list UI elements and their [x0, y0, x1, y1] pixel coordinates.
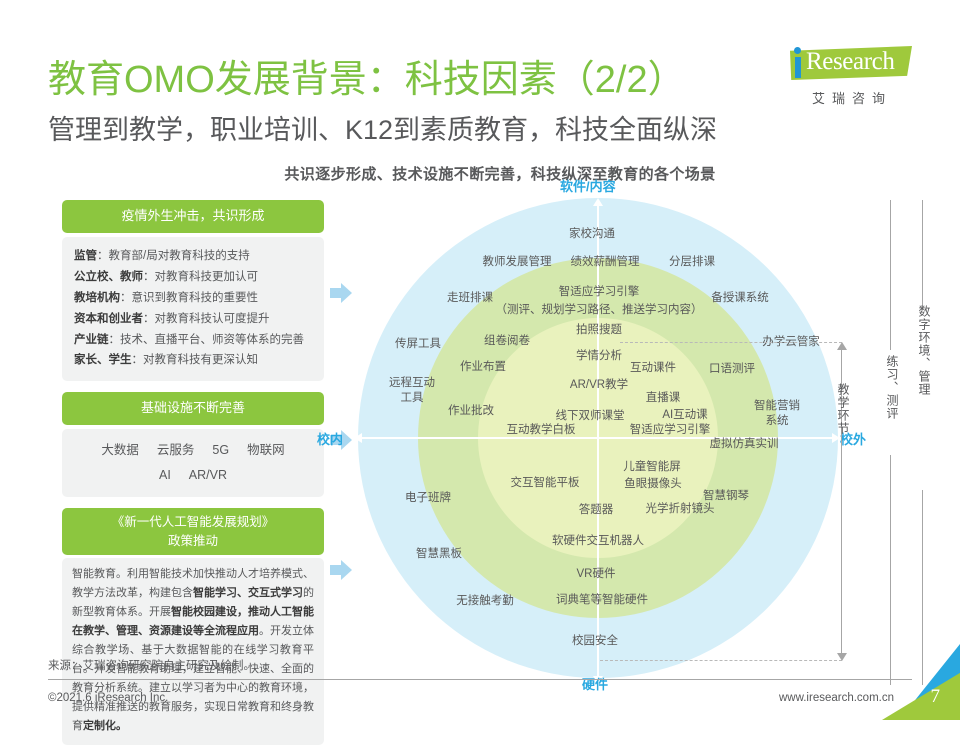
bracket-arrow-up-icon	[837, 342, 847, 350]
diagram-node: 智适应学习引擎	[630, 423, 711, 437]
policy-header: 《新一代人工智能发展规划》 政策推动	[62, 508, 324, 556]
diagram-node: 作业批改	[448, 404, 494, 418]
diagram-node: 分层排课	[669, 255, 715, 269]
diagram-node: 备授课系统	[711, 291, 769, 305]
bracket-arrow-down-icon	[837, 653, 847, 661]
policy-emphasis: 定制化。	[83, 720, 127, 732]
diagram-node: 学情分析	[576, 349, 622, 363]
diagram-node: 互动课件	[630, 361, 676, 375]
diagram-node: 口语测评	[709, 362, 755, 376]
logo-chinese-name: 艾瑞咨询	[792, 88, 912, 107]
diagram-node: 词典笔等智能硬件	[556, 593, 648, 607]
consensus-item-label: 监管	[74, 250, 97, 262]
technology-scenario-diagram: 软件/内容 硬件 校内 校外 家校沟通教师发展管理绩效薪酬管理分层排课走班排课备…	[340, 186, 900, 666]
corner-decoration	[882, 644, 960, 720]
diagram-node: 组卷阅卷	[484, 334, 530, 348]
diagram-node: 鱼眼摄像头	[624, 477, 682, 491]
diagram-node: 直播课	[646, 391, 681, 405]
consensus-item-label: 资本和创业者	[74, 313, 143, 325]
policy-body: 智能教育。利用智能技术加快推动人才培养模式、教学方法改革，构建包含智能学习、交互…	[62, 558, 324, 744]
diagram-node: 电子班牌	[405, 491, 451, 505]
infrastructure-tag: AR/VR	[189, 463, 227, 487]
dash-guide-bottom	[600, 660, 842, 661]
axis-label-top: 软件/内容	[560, 176, 616, 195]
consensus-item: 资本和创业者：对教育科技认可度提升	[74, 309, 312, 330]
infrastructure-row-2: AIAR/VR	[66, 463, 320, 487]
consensus-item-label: 公立校、教师	[74, 271, 143, 283]
consensus-header: 疫情外生冲击，共识形成	[62, 200, 324, 233]
infrastructure-tag: 物联网	[247, 438, 285, 462]
source-note: 来源：艾瑞咨询研究院自主研究及绘制。	[48, 657, 255, 673]
diagram-node: 智能营销	[754, 399, 800, 413]
infrastructure-row-1: 大数据云服务5G物联网	[66, 438, 320, 462]
iresearch-logo: Research 艾瑞咨询	[772, 44, 912, 110]
diagram-node: 作业布置	[460, 360, 506, 374]
diagram-node: 儿童智能屏	[623, 460, 681, 474]
diagram-node: AI互动课	[662, 408, 707, 422]
diagram-node: 校园安全	[572, 634, 618, 648]
diagram-node: 拍照搜题	[576, 323, 622, 337]
infrastructure-tag: AI	[159, 463, 171, 487]
diagram-node: 虚拟仿真实训	[710, 437, 779, 451]
consensus-list: 监管：教育部/局对教育科技的支持公立校、教师：对教育科技更加认可教培机构：意识到…	[62, 237, 324, 382]
logo-wordmark: Research	[806, 48, 894, 76]
bracket-label-teaching: 教学环节	[835, 383, 852, 435]
policy-header-line2: 政策推动	[66, 532, 320, 551]
footer-divider	[48, 679, 912, 680]
diagram-node: 智慧黑板	[416, 547, 462, 561]
logo-mark: Research	[772, 44, 912, 84]
consensus-item-label: 教培机构	[74, 292, 120, 304]
diagram-node: 互动教学白板	[507, 423, 576, 437]
diagram-node: 远程互动	[389, 376, 435, 390]
copyright-text: ©2021.6 iResearch Inc.	[48, 692, 168, 704]
diagram-node: 家校沟通	[569, 227, 615, 241]
page-title: 教育OMO发展背景：科技因素（2/2）	[48, 48, 686, 103]
bracket-label-practice: 练习、测评	[884, 355, 901, 420]
diagram-node: 答题器	[579, 503, 614, 517]
infrastructure-tag: 云服务	[157, 438, 195, 462]
diagram-node: 教师发展管理	[483, 255, 552, 269]
infrastructure-tag: 5G	[212, 438, 229, 462]
axis-arrow-up-icon	[593, 198, 603, 206]
axis-label-left: 校内	[317, 429, 343, 448]
slide-root: 教育OMO发展背景：科技因素（2/2） 管理到教学，职业培训、K12到素质教育，…	[0, 0, 960, 720]
policy-header-line1: 《新一代人工智能发展规划》	[66, 513, 320, 532]
diagram-node: 软硬件交互机器人	[552, 534, 644, 548]
infrastructure-box: 大数据云服务5G物联网 AIAR/VR	[62, 429, 324, 497]
diagram-node: 智适应学习引擎	[559, 285, 640, 299]
diagram-node: 系统	[766, 414, 789, 428]
diagram-node: （测评、规划学习路径、推送学习内容）	[496, 303, 703, 317]
bracket-label-digital-env: 数字环境、管理	[916, 305, 933, 396]
bracket-line-3-top	[922, 200, 923, 310]
axis-label-bottom: 硬件	[582, 674, 608, 693]
diagram-node: 光学折射镜头	[646, 502, 715, 516]
consensus-item-label: 产业链	[74, 334, 109, 346]
infrastructure-tag: 大数据	[101, 438, 139, 462]
consensus-item: 教培机构：意识到教育科技的重要性	[74, 288, 312, 309]
section-heading: 共识逐步形成、技术设施不断完善，科技纵深至教育的各个场景	[0, 163, 960, 184]
diagram-node: 工具	[401, 391, 424, 405]
diagram-node: AR/VR教学	[570, 378, 628, 392]
bracket-line-2-top	[890, 200, 891, 350]
consensus-item: 监管：教育部/局对教育科技的支持	[74, 246, 312, 267]
logo-i-stem-icon	[795, 57, 801, 78]
page-number: 7	[931, 686, 941, 708]
diagram-node: 绩效薪酬管理	[571, 255, 640, 269]
website-url: www.iresearch.com.cn	[779, 692, 894, 704]
corner-green-shape	[882, 644, 960, 720]
consensus-item-label: 家长、学生	[74, 354, 132, 366]
diagram-node: 交互智能平板	[511, 476, 580, 490]
diagram-node: VR硬件	[577, 567, 616, 581]
page-subtitle: 管理到教学，职业培训、K12到素质教育，科技全面纵深	[48, 108, 717, 147]
diagram-node: 走班排课	[447, 291, 493, 305]
infrastructure-header: 基础设施不断完善	[62, 392, 324, 425]
consensus-item: 产业链：技术、直播平台、师资等体系的完善	[74, 330, 312, 351]
policy-emphasis: 智能学习、交互式学习	[193, 587, 303, 599]
dash-guide-top	[620, 342, 842, 343]
diagram-node: 传屏工具	[395, 337, 441, 351]
logo-i-dot-icon	[794, 47, 801, 54]
diagram-node: 无接触考勤	[456, 594, 514, 608]
consensus-item: 家长、学生：对教育科技有更深认知	[74, 350, 312, 371]
axis-arrow-left-icon	[354, 433, 362, 443]
diagram-node: 线下双师课堂	[556, 409, 625, 423]
consensus-item: 公立校、教师：对教育科技更加认可	[74, 267, 312, 288]
